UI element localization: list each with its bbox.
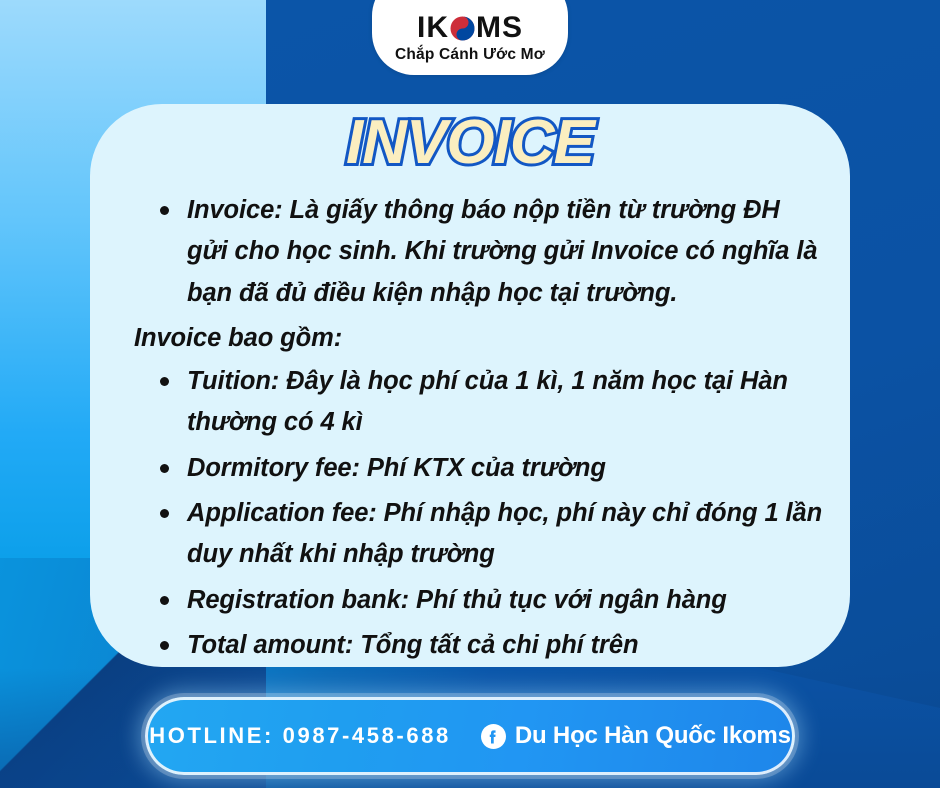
brand-wordmark: IK MS bbox=[417, 13, 523, 43]
bullet-dot-icon bbox=[160, 464, 169, 473]
list-item-label: Tuition: Đây là học phí của 1 kì, 1 năm … bbox=[187, 361, 826, 444]
bullet-dot-icon bbox=[160, 509, 169, 518]
facebook-link[interactable]: Du Học Hàn Quốc Ikoms bbox=[481, 722, 791, 750]
contact-bar[interactable]: HOTLINE: 0987-458-688 Du Học Hàn Quốc Ik… bbox=[145, 697, 795, 775]
bullet-dot-icon bbox=[160, 596, 169, 605]
taegeuk-icon bbox=[450, 16, 475, 41]
list-item-label: Application fee: Phí nhập học, phí này c… bbox=[187, 493, 826, 576]
brand-name-part2: MS bbox=[476, 13, 523, 43]
bullet-dot-icon bbox=[160, 641, 169, 650]
facebook-page-name: Du Học Hàn Quốc Ikoms bbox=[515, 722, 791, 750]
list-item: Total amount: Tổng tất cả chi phí trên bbox=[124, 625, 826, 666]
facebook-icon bbox=[481, 724, 506, 749]
list-item: Dormitory fee: Phí KTX của trường bbox=[124, 448, 826, 489]
list-item-label: Registration bank: Phí thủ tục với ngân … bbox=[187, 580, 727, 621]
list-item: Invoice: Là giấy thông báo nộp tiền từ t… bbox=[124, 190, 826, 314]
list-intro-line: Invoice bao gồm: bbox=[134, 318, 826, 359]
hotline-text: HOTLINE: 0987-458-688 bbox=[149, 723, 451, 749]
bullet-dot-icon bbox=[160, 377, 169, 386]
list-item: Application fee: Phí nhập học, phí này c… bbox=[124, 493, 826, 576]
brand-tagline: Chắp Cánh Ước Mơ bbox=[395, 46, 545, 64]
brand-name-part1: IK bbox=[417, 13, 449, 43]
list-item: Registration bank: Phí thủ tục với ngân … bbox=[124, 580, 826, 621]
list-item-label: Invoice: Là giấy thông báo nộp tiền từ t… bbox=[187, 190, 826, 314]
invoice-items-list: Invoice: Là giấy thông báo nộp tiền từ t… bbox=[90, 190, 850, 670]
brand-logo: IK MS Chắp Cánh Ước Mơ bbox=[372, 0, 568, 75]
list-item: Tuition: Đây là học phí của 1 kì, 1 năm … bbox=[124, 361, 826, 444]
content-card: INVOICE Invoice: Là giấy thông báo nộp t… bbox=[90, 104, 850, 667]
page-title: INVOICE bbox=[90, 112, 850, 174]
list-item-label: Total amount: Tổng tất cả chi phí trên bbox=[187, 625, 638, 666]
list-item-label: Dormitory fee: Phí KTX của trường bbox=[187, 448, 606, 489]
bullet-dot-icon bbox=[160, 206, 169, 215]
